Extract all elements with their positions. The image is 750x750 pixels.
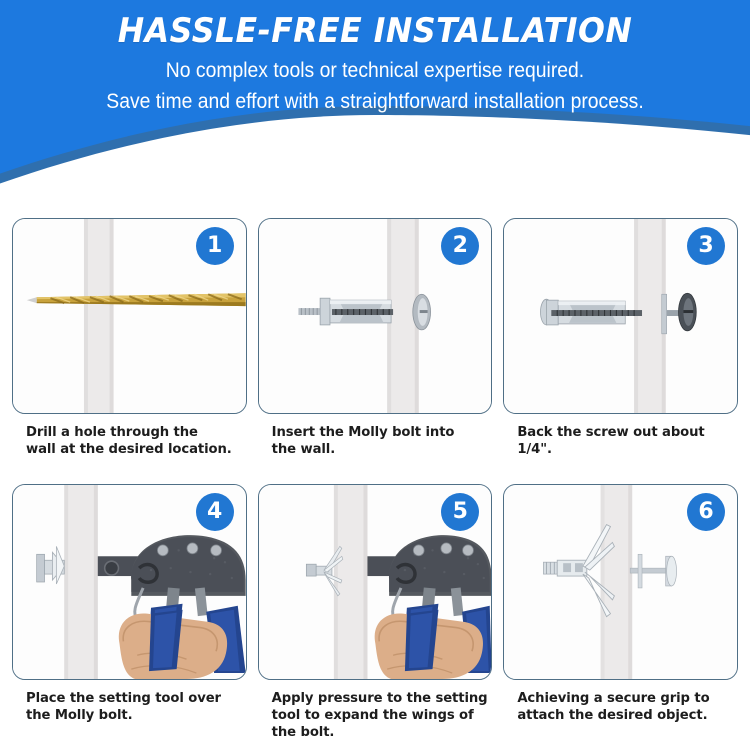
step-card-3: 3 Back the screw out about 1/4". bbox=[503, 218, 738, 484]
caption-line: the wall. bbox=[272, 441, 491, 458]
caption-line: Apply pressure to the setting bbox=[272, 690, 491, 707]
setting-tool-placed-photo: 4 bbox=[12, 484, 247, 680]
step-badge-1: 1 bbox=[196, 227, 234, 265]
header-subtitle-line-1: No complex tools or technical expertise … bbox=[38, 58, 713, 83]
step-caption-1: Drill a hole through the wall at the des… bbox=[12, 424, 247, 458]
caption-line: the bolt. bbox=[272, 724, 491, 741]
caption-line: wall at the desired location. bbox=[26, 441, 245, 458]
caption-line: Insert the Molly bolt into bbox=[272, 424, 491, 441]
step-badge-3: 3 bbox=[687, 227, 725, 265]
screw-backed-out-photo: 3 bbox=[503, 218, 738, 414]
caption-line: tool to expand the wings of bbox=[272, 707, 491, 724]
caption-line: 1/4". bbox=[517, 441, 736, 458]
step-card-6: 6 Achieving a secure grip to attach the … bbox=[503, 484, 738, 750]
setting-tool-pressure-photo: 5 bbox=[258, 484, 493, 680]
step-card-2: 2 Insert the Molly bolt into the wall. bbox=[258, 218, 493, 484]
molly-bolt-insert-photo: 2 bbox=[258, 218, 493, 414]
screw-head-shape bbox=[412, 294, 430, 330]
step-card-1: 1 Drill a hole through the wall at the d… bbox=[12, 218, 247, 484]
caption-line: Achieving a secure grip to bbox=[517, 690, 736, 707]
header-text-block: HASSLE-FREE INSTALLATION No complex tool… bbox=[0, 0, 750, 114]
step-badge-4: 4 bbox=[196, 493, 234, 531]
installation-steps-grid: 1 Drill a hole through the wall at the d… bbox=[0, 218, 750, 750]
step-caption-5: Apply pressure to the setting tool to ex… bbox=[258, 690, 493, 741]
caption-line: Place the setting tool over bbox=[26, 690, 245, 707]
step-caption-2: Insert the Molly bolt into the wall. bbox=[258, 424, 493, 458]
step-card-4: 4 Place the setting tool over the Molly … bbox=[12, 484, 247, 750]
step-caption-3: Back the screw out about 1/4". bbox=[503, 424, 738, 458]
header-subtitle-line-2: Save time and effort with a straightforw… bbox=[38, 89, 713, 114]
caption-line: Drill a hole through the bbox=[26, 424, 245, 441]
drill-bit-through-wall-photo: 1 bbox=[12, 218, 247, 414]
step-caption-4: Place the setting tool over the Molly bo… bbox=[12, 690, 247, 724]
page-title: HASSLE-FREE INSTALLATION bbox=[26, 12, 724, 50]
caption-line: Back the screw out about bbox=[517, 424, 736, 441]
header-banner: HASSLE-FREE INSTALLATION No complex tool… bbox=[0, 0, 750, 215]
step-caption-6: Achieving a secure grip to attach the de… bbox=[503, 690, 738, 724]
caption-line: the Molly bolt. bbox=[26, 707, 245, 724]
step-card-5: 5 Apply pressure to the setting tool to … bbox=[258, 484, 493, 750]
step-badge-6: 6 bbox=[687, 493, 725, 531]
caption-line: attach the desired object. bbox=[517, 707, 736, 724]
expanded-bolt-secure-photo: 6 bbox=[503, 484, 738, 680]
